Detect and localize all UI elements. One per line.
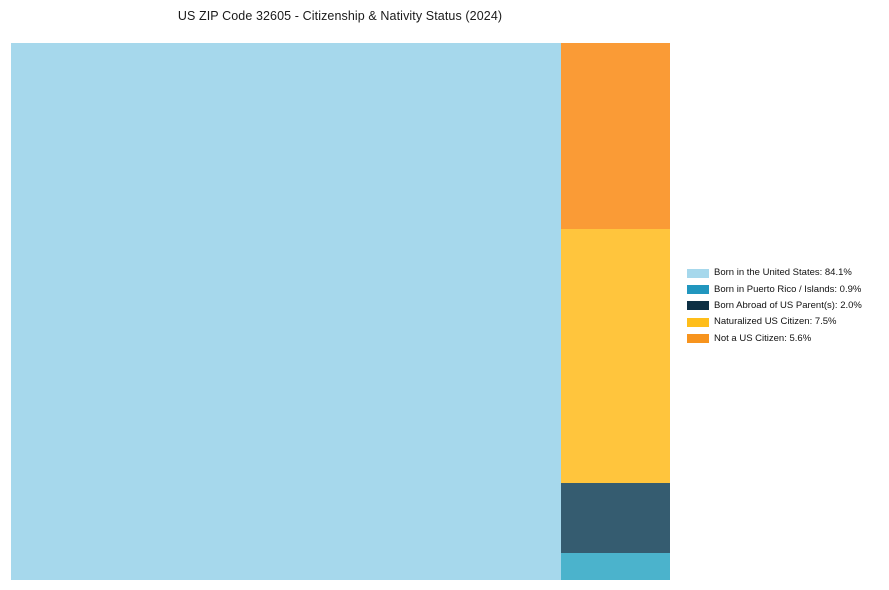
legend-item-born-abroad-of-us-parents[interactable]: Born Abroad of US Parent(s): 2.0% [687, 298, 883, 314]
legend-item-label: Born in Puerto Rico / Islands: 0.9% [714, 285, 861, 295]
chart-title: US ZIP Code 32605 - Citizenship & Nativi… [0, 9, 680, 23]
legend-swatch-icon [687, 269, 709, 278]
legend-swatch-icon [687, 285, 709, 294]
legend-item-label: Not a US Citizen: 5.6% [714, 334, 811, 344]
treemap-tile-not-a-us-citizen[interactable] [561, 43, 670, 229]
legend-item-label: Born in the United States: 84.1% [714, 268, 852, 278]
treemap-tile-born-abroad-of-us-parents[interactable] [561, 483, 670, 553]
legend-item-born-in-puerto-rico-islands[interactable]: Born in Puerto Rico / Islands: 0.9% [687, 281, 883, 297]
treemap-tile-naturalized-us-citizen[interactable] [561, 229, 670, 483]
legend-swatch-icon [687, 318, 709, 327]
legend-item-naturalized-us-citizen[interactable]: Naturalized US Citizen: 7.5% [687, 314, 883, 330]
treemap-plot-area [11, 43, 670, 580]
chart-legend: Born in the United States: 84.1% Born in… [687, 265, 883, 346]
legend-swatch-icon [687, 334, 709, 343]
legend-item-not-a-us-citizen[interactable]: Not a US Citizen: 5.6% [687, 330, 883, 346]
treemap-tile-born-in-the-united-states[interactable] [11, 43, 561, 580]
legend-item-label: Naturalized US Citizen: 7.5% [714, 317, 837, 327]
legend-item-born-in-the-united-states[interactable]: Born in the United States: 84.1% [687, 265, 883, 281]
legend-swatch-icon [687, 301, 709, 310]
treemap-tile-born-in-puerto-rico-islands[interactable] [561, 553, 670, 580]
legend-item-label: Born Abroad of US Parent(s): 2.0% [714, 301, 862, 311]
